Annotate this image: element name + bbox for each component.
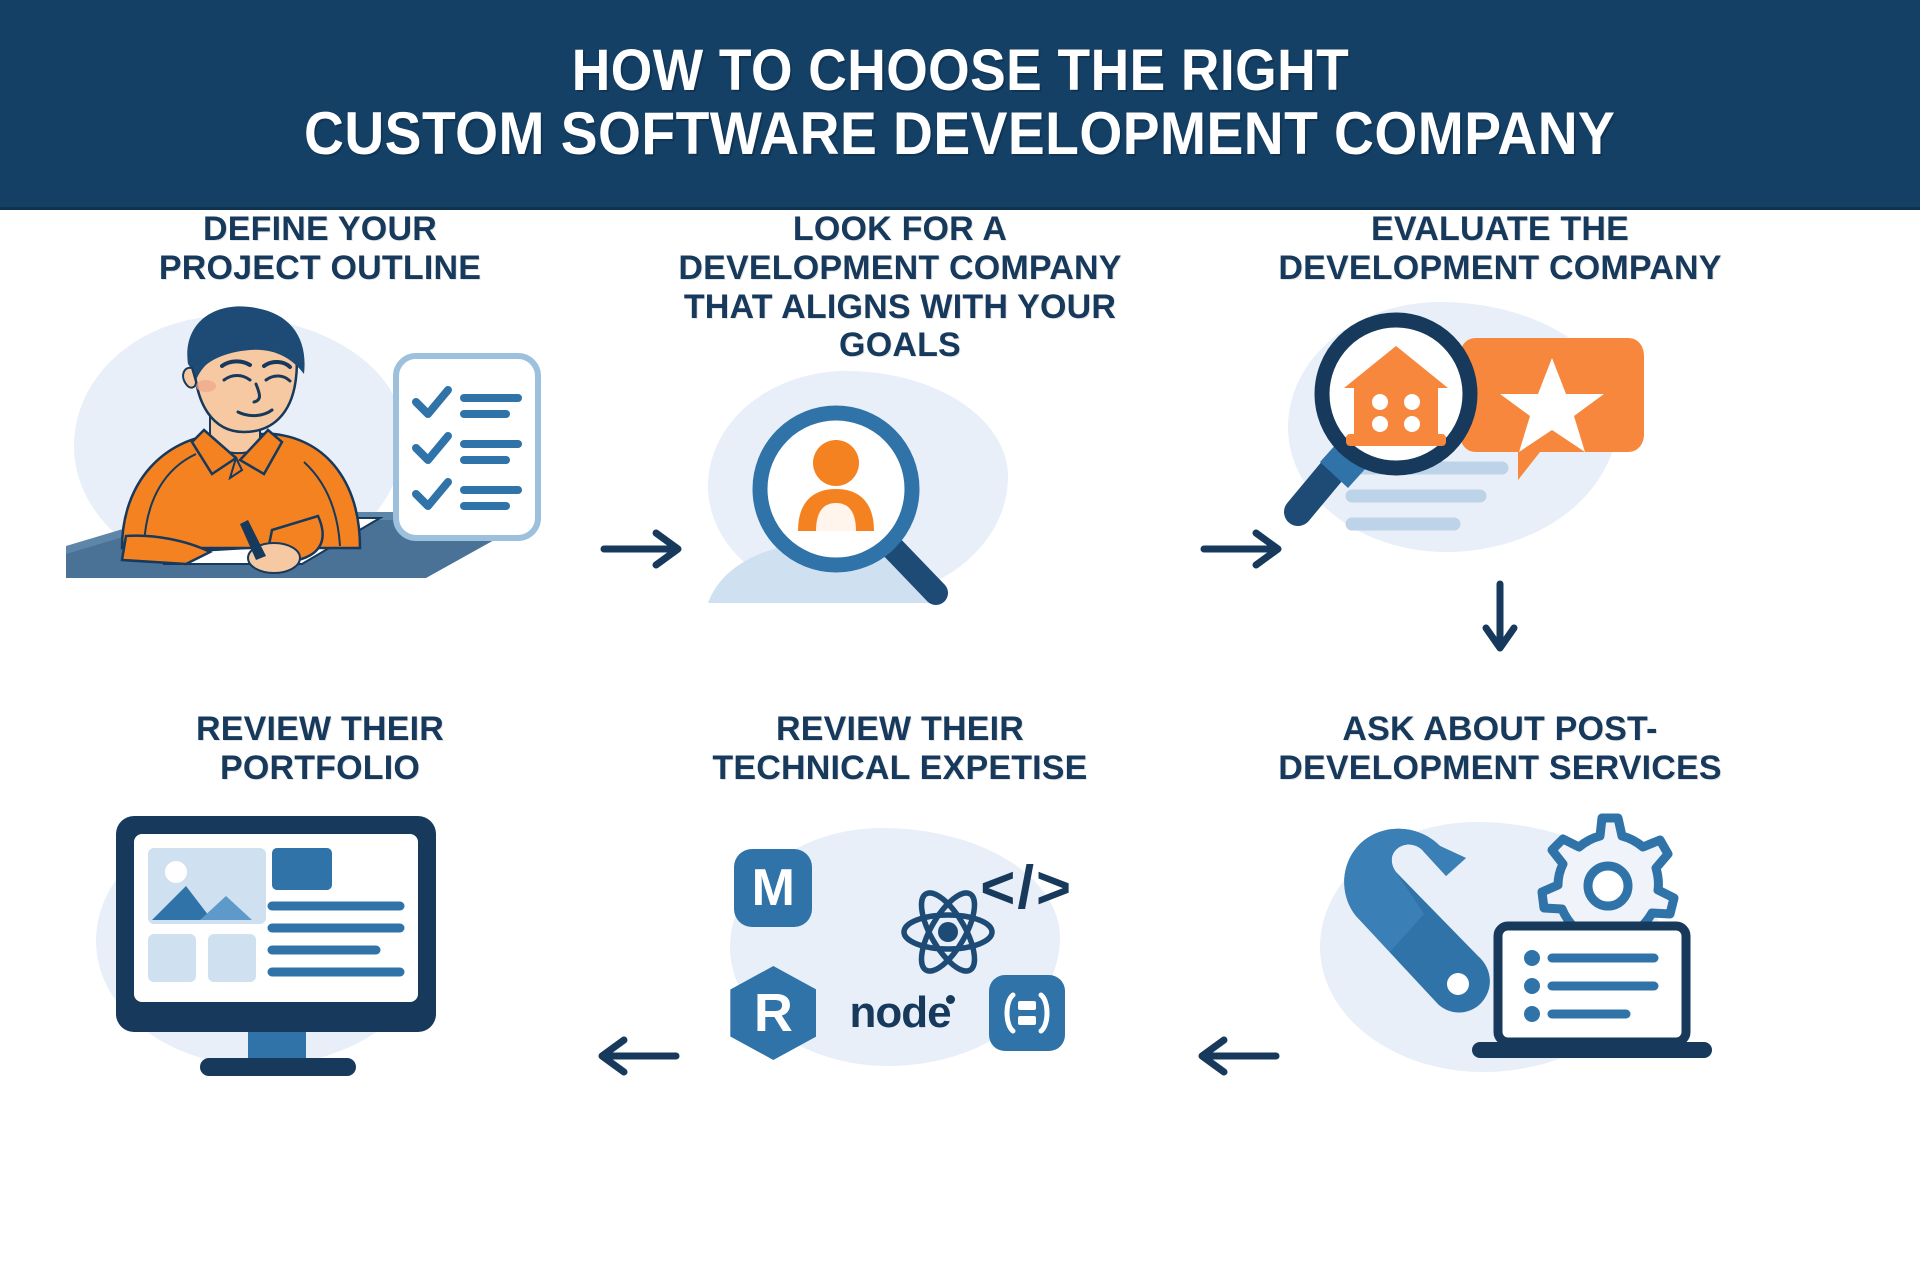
step-1-illustration bbox=[60, 302, 580, 602]
step-1-define-your-project-outline: DEFINE YOUR PROJECT OUTLINE bbox=[60, 210, 580, 602]
step-4-title: REVIEW THEIR PORTFOLIO bbox=[60, 710, 580, 788]
bracket-panel-glyph bbox=[1001, 991, 1053, 1035]
step-5-illustration: M </> R bbox=[640, 802, 1160, 1082]
step-1-title-line-1: DEFINE YOUR bbox=[66, 210, 574, 249]
arrow-step3-to-step6 bbox=[1478, 580, 1522, 660]
database-panel-icon bbox=[989, 975, 1065, 1051]
step-5-title-line-1: REVIEW THEIR bbox=[646, 710, 1154, 749]
step-4-review-their-portfolio: REVIEW THEIR PORTFOLIO bbox=[60, 710, 580, 1082]
react-atom-icon bbox=[900, 888, 996, 976]
step-2-title-line-1: LOOK FOR A bbox=[646, 210, 1154, 249]
step-1-title-line-2: PROJECT OUTLINE bbox=[66, 249, 574, 288]
step-2-title-line-3: THAT ALIGNS WITH YOUR bbox=[646, 288, 1154, 327]
portfolio-monitor-illustration bbox=[60, 802, 580, 1082]
nodejs-logo-dot bbox=[946, 995, 955, 1004]
step-6-title-line-2: DEVELOPMENT SERVICES bbox=[1246, 749, 1754, 788]
step-2-look-for-aligned-company: LOOK FOR A DEVELOPMENT COMPANY THAT ALIG… bbox=[640, 210, 1160, 611]
steps-grid: DEFINE YOUR PROJECT OUTLINE bbox=[0, 210, 1920, 1280]
tech-stack-logo-grid: M </> R bbox=[710, 826, 1090, 1076]
step-6-title: ASK ABOUT POST- DEVELOPMENT SERVICES bbox=[1240, 710, 1760, 788]
step-3-title: EVALUATE THE DEVELOPMENT COMPANY bbox=[1240, 210, 1760, 288]
header-title-line-2: CUSTOM SOFTWARE DEVELOPMENT COMPANY bbox=[304, 102, 1615, 167]
r-language-logo-label: R bbox=[754, 986, 793, 1040]
step-6-title-line-1: ASK ABOUT POST- bbox=[1246, 710, 1754, 749]
header-title-line-1: HOW TO CHOOSE THE RIGHT bbox=[571, 40, 1348, 103]
step-3-evaluate-the-development-company: EVALUATE THE DEVELOPMENT COMPANY bbox=[1240, 210, 1760, 562]
nodejs-logo-label: node bbox=[849, 988, 950, 1037]
step-2-title-line-2: DEVELOPMENT COMPANY bbox=[646, 249, 1154, 288]
support-services-illustration bbox=[1240, 802, 1760, 1082]
step-5-review-their-technical-expertise: REVIEW THEIR TECHNICAL EXPETISE M bbox=[640, 710, 1160, 1082]
wrench-icon bbox=[1344, 828, 1490, 1012]
man-writing-illustration bbox=[60, 302, 580, 602]
step-2-illustration bbox=[640, 371, 1160, 611]
material-ui-logo: M bbox=[734, 849, 812, 927]
step-4-title-line-1: REVIEW THEIR bbox=[66, 710, 574, 749]
step-2-title: LOOK FOR A DEVELOPMENT COMPANY THAT ALIG… bbox=[640, 210, 1160, 365]
laptop-list-icon bbox=[1472, 926, 1712, 1058]
magnifier-building-review-illustration bbox=[1240, 302, 1760, 562]
step-4-title-line-2: PORTFOLIO bbox=[66, 749, 574, 788]
nodejs-logo: node bbox=[849, 991, 950, 1035]
step-6-ask-about-post-development-services: ASK ABOUT POST- DEVELOPMENT SERVICES bbox=[1240, 710, 1760, 1082]
step-2-title-line-4: GOALS bbox=[646, 326, 1154, 365]
material-ui-logo-label: M bbox=[752, 862, 795, 914]
step-3-title-line-2: DEVELOPMENT COMPANY bbox=[1246, 249, 1754, 288]
r-language-logo: R bbox=[730, 966, 816, 1060]
header-banner: HOW TO CHOOSE THE RIGHT CUSTOM SOFTWARE … bbox=[0, 0, 1920, 210]
step-1-title: DEFINE YOUR PROJECT OUTLINE bbox=[60, 210, 580, 288]
magnifier-person-illustration bbox=[640, 371, 1160, 611]
infographic-page: HOW TO CHOOSE THE RIGHT CUSTOM SOFTWARE … bbox=[0, 0, 1920, 1280]
step-4-illustration bbox=[60, 802, 580, 1082]
step-5-title-line-2: TECHNICAL EXPETISE bbox=[646, 749, 1154, 788]
step-3-illustration bbox=[1240, 302, 1760, 562]
step-5-title: REVIEW THEIR TECHNICAL EXPETISE bbox=[640, 710, 1160, 788]
step-6-illustration bbox=[1240, 802, 1760, 1082]
step-3-title-line-1: EVALUATE THE bbox=[1246, 210, 1754, 249]
